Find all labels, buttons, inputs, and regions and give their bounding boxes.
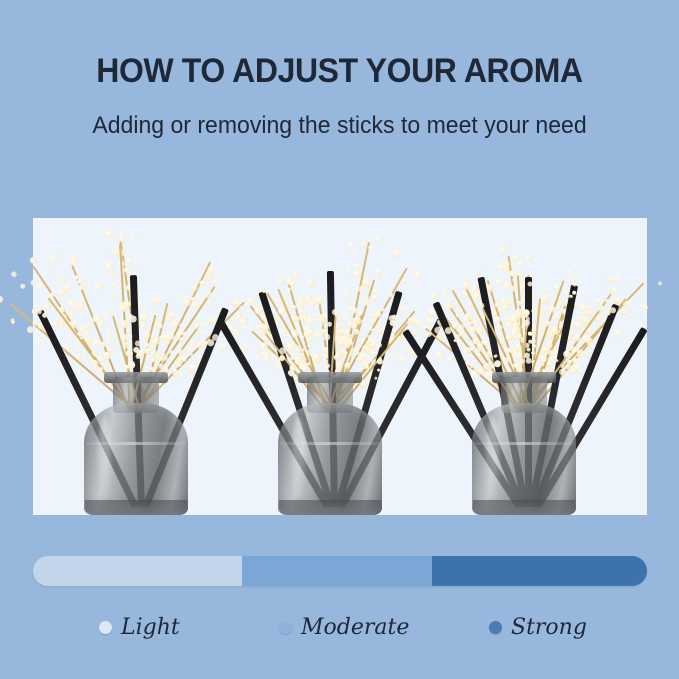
infographic-stage: HOW TO ADJUST YOUR AROMA Adding or remov…: [0, 0, 679, 679]
legend-item-strong[interactable]: Strong: [489, 606, 587, 648]
flower-bloom: [11, 320, 16, 325]
legend-label: Light: [121, 615, 180, 640]
flower-bloom: [0, 294, 5, 305]
legend-dot-icon: [279, 621, 292, 634]
legend-item-light[interactable]: Light: [99, 606, 180, 648]
flower-bloom: [19, 283, 26, 290]
intensity-legend: LightModerateStrong: [33, 606, 647, 648]
page-title: HOW TO ADJUST YOUR AROMA: [20, 52, 658, 91]
legend-label: Moderate: [301, 615, 409, 640]
flower-bloom: [657, 281, 663, 287]
product-photo-panel: [33, 218, 647, 515]
flower-bloom: [9, 270, 17, 278]
page-subtitle: Adding or removing the sticks to meet yo…: [14, 112, 666, 140]
legend-dot-icon: [489, 621, 502, 634]
legend-dot-icon: [99, 621, 112, 634]
intensity-bar[interactable]: [33, 556, 647, 586]
intensity-segment-light[interactable]: [33, 556, 242, 586]
legend-label: Strong: [511, 615, 587, 640]
legend-item-moderate[interactable]: Moderate: [279, 606, 409, 648]
intensity-segment-strong[interactable]: [432, 556, 647, 586]
flower-bloom: [10, 318, 15, 323]
intensity-segment-moderate[interactable]: [242, 556, 432, 586]
